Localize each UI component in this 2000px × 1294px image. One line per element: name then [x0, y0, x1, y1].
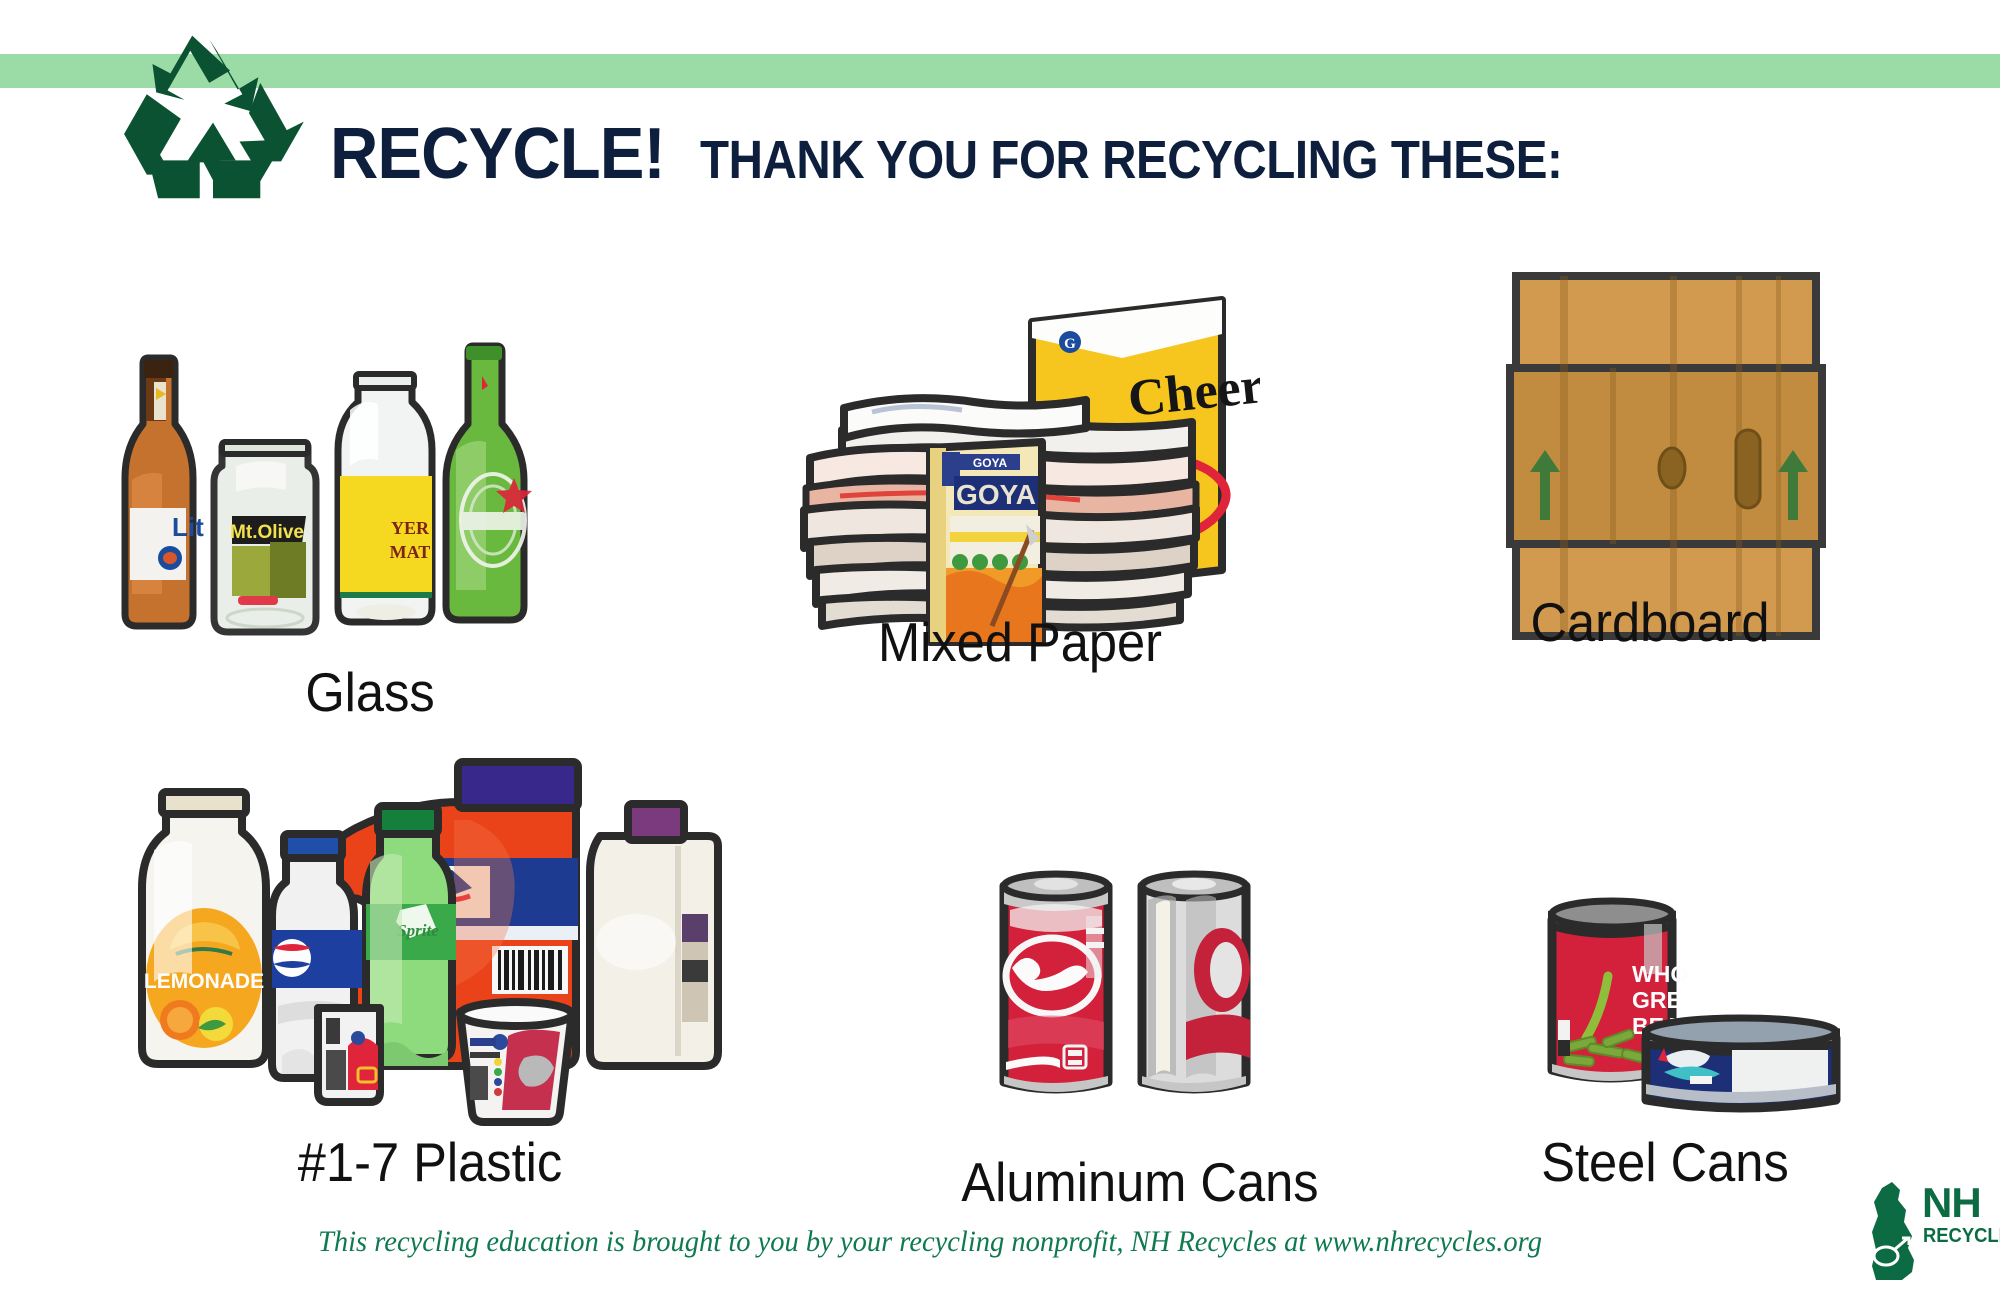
category-label-cardboard: Cardboard [1457, 590, 1843, 654]
milk-jug [590, 804, 718, 1066]
nh-logo-subtext: RECYCLES [1923, 1226, 2000, 1246]
category-label-glass: Glass [131, 660, 609, 724]
page-subtitle: THANK YOU FOR RECYCLING THESE: [700, 133, 1562, 187]
lemonade-jug: LEMONADE [142, 792, 266, 1064]
nh-recycles-logo: NH RECYCLES [1862, 1180, 1994, 1285]
category-mixed-paper: G Cheerios GOYA GOYA [780, 280, 1260, 710]
silver-soda-can [1142, 874, 1250, 1092]
category-glass: Lit Mt.Olive YER MAT [110, 330, 630, 710]
category-label-mixed-paper: Mixed Paper [799, 610, 1241, 674]
recycling-symbol-icon [118, 28, 308, 203]
yerba-mate-bottle: YER MAT [338, 374, 432, 622]
category-steel: WHO GRE BEA S [1540, 880, 1880, 1180]
tuna-can [1646, 1018, 1836, 1108]
plastic-items-illustration: LEMONADE Sprite [130, 750, 830, 1130]
svg-text:G: G [1064, 336, 1076, 352]
new-hampshire-state-icon [1862, 1180, 1922, 1285]
category-aluminum: Aluminum Cans [990, 860, 1310, 1180]
svg-text:YER: YER [391, 518, 430, 538]
glass-items-illustration: Lit Mt.Olive YER MAT [110, 330, 630, 650]
steel-cans-illustration: WHO GRE BEA [1540, 880, 1860, 1130]
header-title-group: RECYCLE!THANK YOU FOR RECYCLING THESE: [330, 118, 1680, 190]
poster-header: RECYCLE!THANK YOU FOR RECYCLING THESE: [0, 0, 2000, 230]
green-beer-bottle [446, 346, 532, 620]
small-cup [318, 1008, 380, 1102]
aluminum-cans-illustration [990, 860, 1290, 1130]
svg-text:Sprite: Sprite [397, 921, 439, 940]
svg-text:Mt.Olive: Mt.Olive [230, 522, 304, 543]
yogurt-cup [460, 1002, 572, 1122]
svg-text:MAT: MAT [390, 542, 431, 562]
svg-text:GOYA: GOYA [973, 456, 1008, 470]
category-label-plastic: #1-7 Plastic [136, 1130, 725, 1194]
svg-text:GRE: GRE [1632, 987, 1682, 1013]
page-title: RECYCLE! [330, 118, 665, 190]
svg-text:Lit: Lit [172, 512, 204, 542]
category-label-aluminum: Aluminum Cans [910, 1150, 1370, 1214]
mixed-paper-illustration: G Cheerios GOYA GOYA [780, 280, 1260, 650]
category-cardboard: Cardboard [1500, 260, 1920, 710]
pickle-jar: Mt.Olive [214, 442, 316, 632]
red-soda-can [1004, 874, 1108, 1092]
category-plastic: LEMONADE Sprite [130, 750, 830, 1170]
footer-credit-text: This recycling education is brought to y… [47, 1225, 1814, 1259]
svg-text:GOYA: GOYA [956, 479, 1036, 510]
category-label-steel: Steel Cans [1449, 1130, 1881, 1194]
svg-text:WHO: WHO [1632, 961, 1688, 987]
beer-bottle: Lit [125, 358, 204, 626]
nh-logo-name: NH [1922, 1182, 1981, 1224]
